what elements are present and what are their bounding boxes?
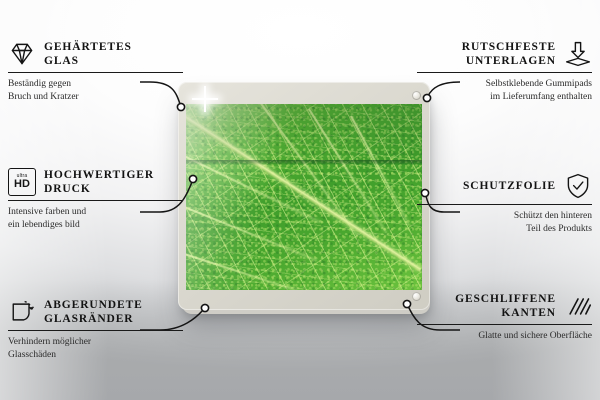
feature-subtitle: Verhindern möglicher (8, 336, 183, 349)
rounded-corner-icon (8, 298, 36, 326)
feature-header: ABGERUNDETE GLASRÄNDER (8, 298, 183, 326)
feature-subtitle: Schützt den hinteren (417, 210, 592, 223)
feature-subtitle: Glasschäden (8, 349, 183, 362)
feature-non-slip-pads[interactable]: RUTSCHFESTE UNTERLAGEN Selbstklebende Gu… (417, 40, 592, 103)
feature-high-quality-print[interactable]: ultra HD HOCHWERTIGER DRUCK Intensive fa… (8, 168, 183, 231)
arrow-down-pad-icon (564, 40, 592, 68)
feature-title: ABGERUNDETE GLASRÄNDER (44, 298, 143, 326)
feature-title: GESCHLIFFENE KANTEN (455, 292, 556, 320)
feature-protective-film[interactable]: SCHUTZFOLIE Schützt den hinteren Teil de… (417, 172, 592, 235)
leaf-shade-band (186, 104, 422, 167)
feature-header: RUTSCHFESTE UNTERLAGEN (417, 40, 592, 68)
shield-check-icon (564, 172, 592, 200)
diamond-icon (8, 40, 36, 68)
feature-polished-edges[interactable]: GESCHLIFFENE KANTEN Glatte und sichere O… (417, 292, 592, 343)
feature-header: GESCHLIFFENE KANTEN (417, 292, 592, 320)
divider (417, 324, 592, 325)
feature-header: GEHÄRTETES GLAS (8, 40, 183, 68)
infographic-canvas: GEHÄRTETES GLAS Beständig gegen Bruch un… (0, 0, 600, 400)
feature-subtitle: im Lieferumfang enthalten (417, 91, 592, 104)
feature-title: RUTSCHFESTE UNTERLAGEN (462, 40, 556, 68)
feature-header: ultra HD HOCHWERTIGER DRUCK (8, 168, 183, 196)
feature-subtitle: Beständig gegen (8, 78, 183, 91)
feature-title: GEHÄRTETES GLAS (44, 40, 132, 68)
feature-subtitle: Teil des Produkts (417, 223, 592, 236)
feature-header: SCHUTZFOLIE (417, 172, 592, 200)
feature-subtitle: Bruch und Kratzer (8, 91, 183, 104)
ultra-hd-icon: ultra HD (8, 168, 36, 196)
divider (417, 204, 592, 205)
divider (8, 72, 183, 73)
feature-subtitle: ein lebendiges bild (8, 219, 183, 232)
product-board (178, 82, 430, 310)
divider (417, 72, 592, 73)
feature-title: HOCHWERTIGER DRUCK (44, 168, 154, 196)
feature-tempered-glass[interactable]: GEHÄRTETES GLAS Beständig gegen Bruch un… (8, 40, 183, 103)
feature-subtitle: Intensive farben und (8, 206, 183, 219)
divider (8, 200, 183, 201)
feature-subtitle: Selbstklebende Gummipads (417, 78, 592, 91)
feature-subtitle: Glatte und sichere Oberfläche (417, 330, 592, 343)
feature-title: SCHUTZFOLIE (463, 179, 556, 193)
divider (8, 330, 183, 331)
feature-rounded-glass-edges[interactable]: ABGERUNDETE GLASRÄNDER Verhindern möglic… (8, 298, 183, 361)
hatch-lines-icon (564, 292, 592, 320)
leaf-dark-edge (186, 160, 422, 165)
product-print-area (186, 104, 422, 290)
ultra-hd-big-text: HD (14, 179, 30, 190)
